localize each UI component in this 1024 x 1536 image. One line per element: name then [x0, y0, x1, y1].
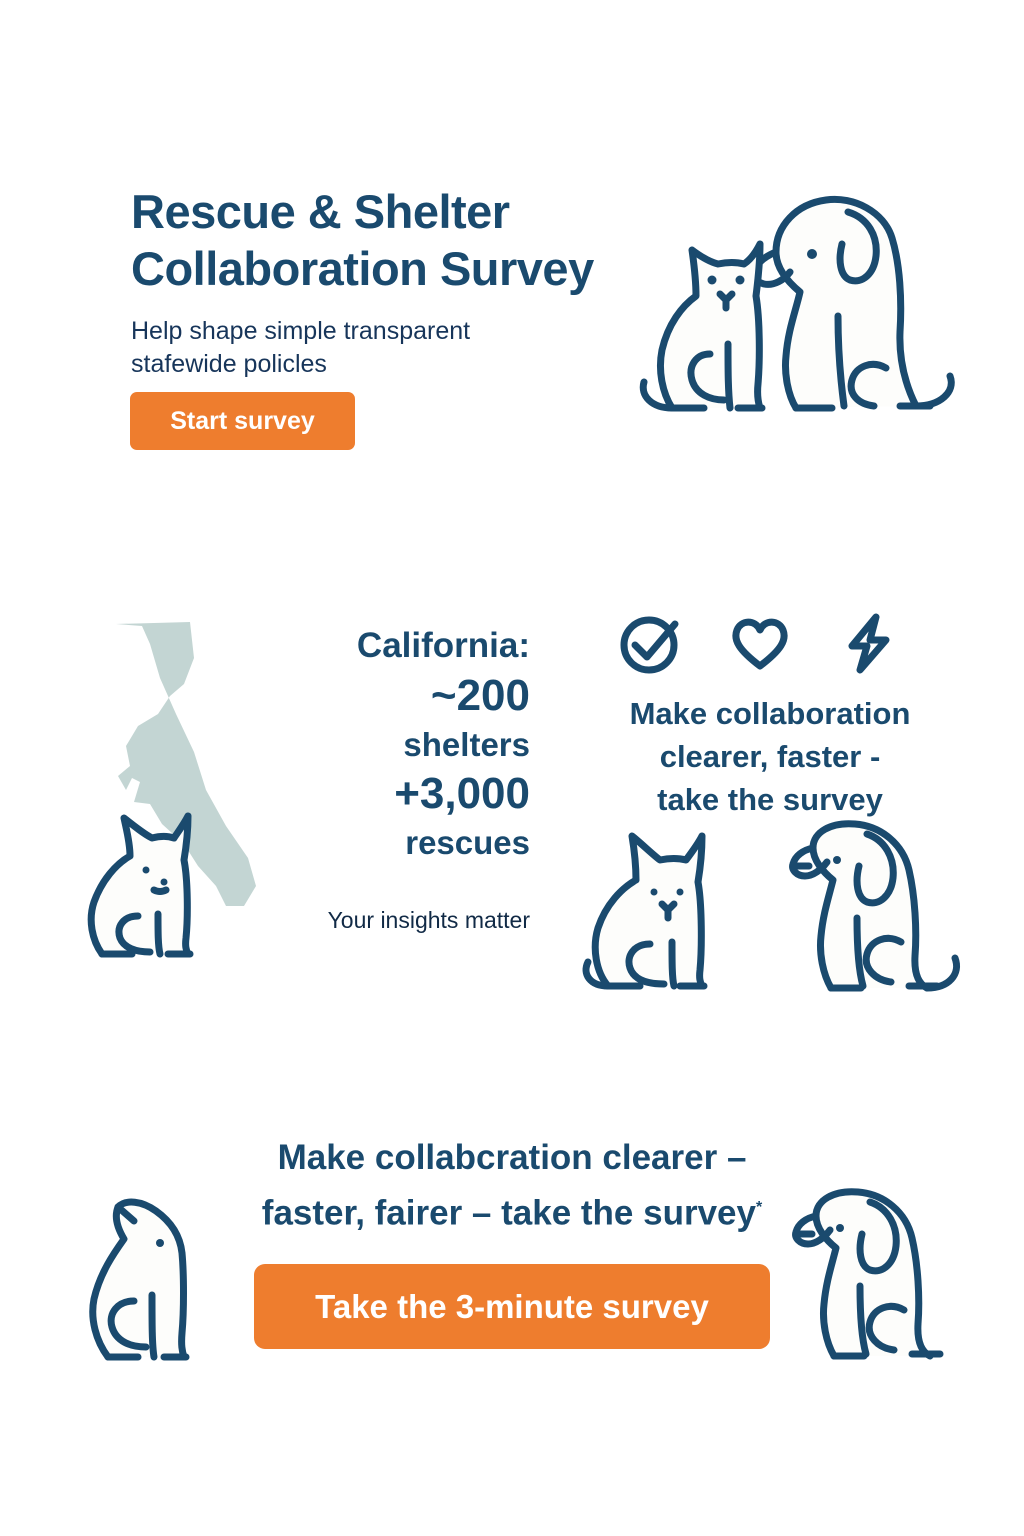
hero-subtitle-line-1: Help shape simple transparent [131, 317, 470, 345]
cta-left-dog-illustration [62, 1195, 232, 1360]
benefit-icon-row [620, 612, 900, 674]
stats-note: Your insights matter [190, 905, 530, 935]
dog-icon [793, 824, 957, 988]
california-stats-section: California: ~200 shelters +3,000 rescues… [80, 600, 500, 1000]
hero-subtitle-line-2: stafewide policles [131, 350, 327, 378]
stats-shelters-label: shelters [220, 724, 530, 766]
stats-rescues-value: +3,000 [220, 766, 530, 822]
collaboration-cat-illustration [580, 830, 715, 990]
heart-icon [729, 612, 791, 674]
collaboration-section: Make collaboration clearer, faster - tak… [560, 600, 980, 1010]
cta-heading-line-1: Make collabcration clearer – [278, 1138, 747, 1177]
page-title-line-1: Rescue & Shelter [131, 185, 510, 238]
start-survey-button[interactable]: Start survey [130, 392, 355, 450]
dog-icon [796, 1192, 940, 1356]
page-title-line-2: Collaboration Survey [131, 242, 594, 295]
cta-heading-footnote-mark: * [756, 1199, 762, 1216]
dog-icon [753, 199, 951, 408]
stats-rescues-label: rescues [220, 822, 530, 864]
collaboration-dog-illustration [785, 822, 960, 992]
cat-icon [91, 816, 190, 954]
collaboration-line-3: take the survey [657, 782, 883, 817]
cat-icon [643, 244, 762, 408]
hero-section: Rescue & Shelter Collaboration Survey He… [0, 0, 1024, 480]
stats-heading: California: [220, 624, 530, 668]
survey-promo-page: Rescue & Shelter Collaboration Survey He… [0, 0, 1024, 1536]
california-stats-text: California: ~200 shelters +3,000 rescues [220, 624, 530, 864]
cat-icon [586, 836, 704, 986]
collaboration-line-2: clearer, faster - [660, 739, 881, 774]
stats-cat-illustration [80, 808, 210, 958]
collaboration-text: Make collaboration clearer, faster - tak… [560, 692, 980, 821]
take-survey-button[interactable]: Take the 3-minute survey [254, 1264, 770, 1349]
dog-icon [93, 1202, 186, 1357]
hero-cat-and-dog-illustration [600, 160, 970, 410]
cta-right-dog-illustration [790, 1190, 960, 1360]
lightning-bolt-icon [838, 612, 900, 674]
collaboration-line-1: Make collaboration [630, 696, 911, 731]
check-circle-icon [620, 612, 682, 674]
stats-shelters-value: ~200 [220, 668, 530, 724]
cta-heading: Make collabcration clearer – faster, fai… [140, 1133, 884, 1239]
cta-heading-line-2: faster, fairer – take the survey [262, 1194, 756, 1233]
hero-subtitle: Help shape simple transparent stafewide … [131, 315, 601, 381]
